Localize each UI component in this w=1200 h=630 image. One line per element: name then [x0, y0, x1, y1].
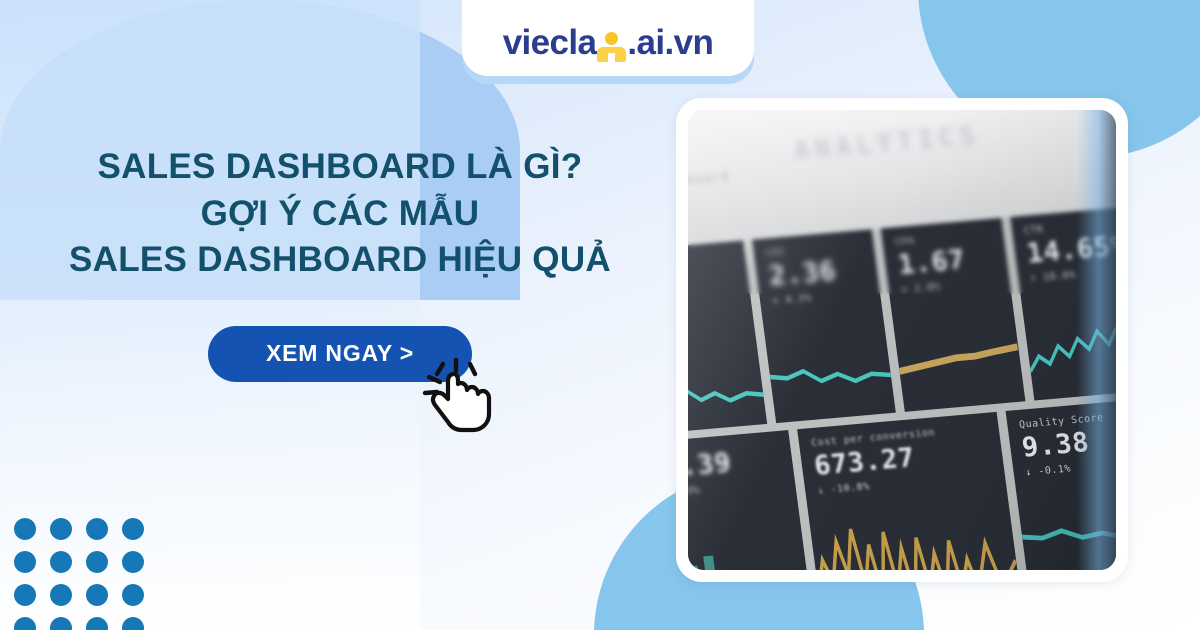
kpi-value: 2.36: [767, 252, 869, 291]
decor-dot: [50, 617, 72, 630]
person-head-shape: [605, 32, 618, 45]
decor-dot: [122, 584, 144, 606]
decor-dot: [122, 518, 144, 540]
headline-line-1: SALES DASHBOARD LÀ GÌ?: [28, 144, 652, 191]
decor-dot-grid: [14, 518, 158, 630]
decor-dot: [14, 518, 36, 540]
kpi-tile-ctr: CTR 14.65% ↑ 10.6%: [1010, 202, 1116, 401]
kpi-value: 1.67: [896, 241, 998, 280]
decor-dot: [14, 551, 36, 573]
decor-dot: [50, 518, 72, 540]
sparkline-chart: [688, 332, 767, 427]
logo-text-prefix: viecla: [503, 25, 597, 60]
decor-dot: [122, 617, 144, 630]
sparkline-chart: [893, 309, 1024, 404]
kpi-tile: CPC 2.36 + 4.2%: [752, 229, 896, 423]
dashboard-photo-card: dashboard ANALYTICS CPC 2.36: [676, 98, 1128, 582]
dashboard-photo: dashboard ANALYTICS CPC 2.36: [688, 110, 1116, 570]
decor-dot: [14, 584, 36, 606]
logo-text-suffix: .ai.vn: [627, 25, 713, 60]
cta-container: XEM NGAY >: [28, 326, 652, 382]
headline-line-3: SALES DASHBOARD HIỆU QUẢ: [28, 237, 652, 284]
kpi-label: [688, 251, 735, 260]
person-m-icon: [596, 32, 626, 62]
headline-line-2: GỢI Ý CÁC MẪU: [28, 191, 652, 238]
kpi-value: 1.39: [688, 443, 784, 484]
screen-ghost-title: dashboard: [688, 169, 731, 191]
decor-dot: [50, 551, 72, 573]
promo-banner: viecla .ai.vn SALES DASHBOARD LÀ GÌ? GỢI…: [0, 0, 1200, 630]
decor-dot: [86, 617, 108, 630]
kpi-tile: CPA 1.67 + 2.8%: [881, 217, 1025, 411]
xem-ngay-button[interactable]: XEM NGAY >: [208, 326, 472, 382]
kpi-tile: 1.39 -0.4%: [688, 430, 813, 570]
decor-dot: [122, 551, 144, 573]
sparkline-chart: [764, 321, 895, 416]
decor-dot: [86, 551, 108, 573]
decor-dot: [86, 584, 108, 606]
kpi-delta: [688, 255, 735, 264]
decor-dot: [50, 584, 72, 606]
bar-chart: [688, 522, 812, 570]
kpi-tile-quality-score: Quality Score 9.38 ↓ -0.1%: [1005, 393, 1116, 570]
dashboard-screen: dashboard ANALYTICS CPC 2.36: [688, 110, 1116, 570]
decor-dot: [86, 518, 108, 540]
volatile-line-chart: [810, 504, 1020, 570]
sparkline-chart: [1022, 294, 1116, 393]
headline-block: SALES DASHBOARD LÀ GÌ? GỢI Ý CÁC MẪU SAL…: [28, 144, 652, 284]
logo-tab[interactable]: viecla .ai.vn: [462, 0, 754, 76]
screen-ghost-brand: ANALYTICS: [792, 120, 981, 166]
person-notch-shape: [608, 53, 615, 62]
sparkline-chart: [1017, 485, 1116, 570]
decor-dot: [14, 617, 36, 630]
brand-logo: viecla .ai.vn: [503, 25, 714, 60]
kpi-value: [688, 253, 735, 262]
kpi-tile-cost-per-conversion: Cost per conversion 673.27 ↓ -10.8%: [797, 412, 1020, 570]
